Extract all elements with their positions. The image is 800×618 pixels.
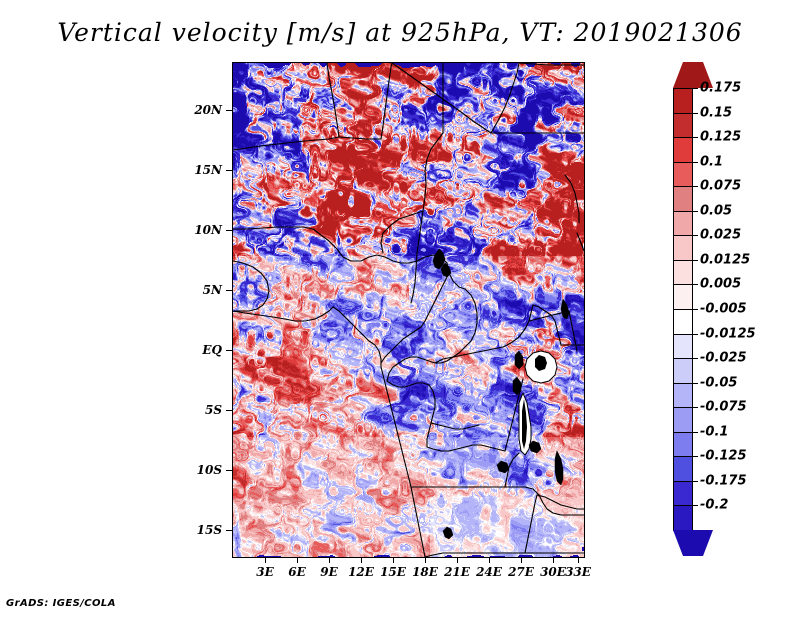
colorbar[interactable]: 0.1750.150.1250.10.0750.050.0250.01250.0… (673, 62, 693, 556)
colorbar-tick (693, 456, 698, 457)
x-tick-27E (521, 557, 522, 563)
colorbar-band (673, 481, 693, 507)
colorbar-band (673, 334, 693, 360)
colorbar-label: -0.2 (700, 498, 728, 513)
map-plot-area[interactable] (232, 62, 585, 558)
y-tick-10S (226, 470, 232, 471)
colorbar-tick (693, 260, 698, 261)
colorbar-label: -0.0125 (700, 326, 756, 341)
colorbar-label: 0.15 (700, 105, 732, 120)
y-tick-20N (226, 110, 232, 111)
x-tick-21E (457, 557, 458, 563)
x-tick-30E (553, 557, 554, 563)
x-label-15E: 15E (380, 565, 406, 579)
colorbar-band (673, 456, 693, 482)
colorbar-tick (693, 358, 698, 359)
colorbar-label: -0.05 (700, 375, 737, 390)
colorbar-label: -0.1 (700, 424, 728, 439)
colorbar-label: 0.0125 (700, 252, 750, 267)
colorbar-band (673, 407, 693, 433)
grads-plot-page: Vertical velocity [m/s] at 925hPa, VT: 2… (0, 0, 800, 618)
y-label-5S: 5S (178, 403, 222, 417)
x-tick-12E (361, 557, 362, 563)
colorbar-band (673, 235, 693, 261)
colorbar-tick (693, 186, 698, 187)
colorbar-label: -0.005 (700, 302, 747, 317)
x-tick-18E (425, 557, 426, 563)
colorbar-band (673, 186, 693, 212)
y-label-20N: 20N (178, 103, 222, 117)
y-label-15N: 15N (178, 163, 222, 177)
colorbar-tick (693, 284, 698, 285)
colorbar-label: 0.1 (700, 154, 723, 169)
colorbar-band (673, 162, 693, 188)
x-label-9E: 9E (320, 565, 338, 579)
y-label-15S: 15S (178, 523, 222, 537)
x-label-18E: 18E (412, 565, 438, 579)
colorbar-tick (693, 309, 698, 310)
colorbar-tick (693, 432, 698, 433)
colorbar-tick (693, 211, 698, 212)
x-label-27E: 27E (508, 565, 534, 579)
colorbar-band (673, 211, 693, 237)
x-tick-15E (393, 557, 394, 563)
x-tick-33E (578, 557, 579, 563)
colorbar-label: 0.005 (700, 277, 741, 292)
y-tick-EQ (226, 350, 232, 351)
colorbar-label: -0.025 (700, 351, 747, 366)
colorbar-band (673, 505, 693, 531)
x-tick-24E (489, 557, 490, 563)
y-tick-5S (226, 410, 232, 411)
x-label-33E: 33E (565, 565, 591, 579)
colorbar-tick (693, 383, 698, 384)
x-label-6E: 6E (288, 565, 306, 579)
colorbar-label: 0.05 (700, 203, 732, 218)
y-tick-5N (226, 290, 232, 291)
colorbar-label: -0.125 (700, 449, 747, 464)
grads-credit: GrADS: IGES/COLA (6, 598, 116, 609)
y-label-EQ: EQ (178, 343, 222, 357)
x-label-24E: 24E (476, 565, 502, 579)
x-label-12E: 12E (348, 565, 374, 579)
x-tick-3E (265, 557, 266, 563)
colorbar-tick (693, 113, 698, 114)
colorbar-tick (693, 407, 698, 408)
y-label-10N: 10N (178, 223, 222, 237)
colorbar-arrow-bottom (673, 530, 713, 556)
page-title: Vertical velocity [m/s] at 925hPa, VT: 2… (0, 18, 800, 47)
colorbar-label: 0.025 (700, 228, 741, 243)
colorbar-band (673, 113, 693, 139)
colorbar-band (673, 432, 693, 458)
colorbar-band (673, 309, 693, 335)
colorbar-tick (693, 481, 698, 482)
colorbar-band (673, 358, 693, 384)
colorbar-label: 0.175 (700, 81, 741, 96)
colorbar-band (673, 88, 693, 114)
y-label-10S: 10S (178, 463, 222, 477)
y-tick-10N (226, 230, 232, 231)
colorbar-tick (693, 137, 698, 138)
colorbar-label: 0.075 (700, 179, 741, 194)
x-tick-6E (297, 557, 298, 563)
y-tick-15N (226, 170, 232, 171)
x-tick-9E (329, 557, 330, 563)
y-label-5N: 5N (178, 283, 222, 297)
x-label-30E: 30E (540, 565, 566, 579)
x-label-3E: 3E (256, 565, 274, 579)
colorbar-band (673, 284, 693, 310)
x-label-21E: 21E (444, 565, 470, 579)
colorbar-label: -0.175 (700, 473, 747, 488)
colorbar-label: -0.075 (700, 400, 747, 415)
vertical-velocity-heatmap (233, 63, 584, 557)
colorbar-tick (693, 88, 698, 89)
colorbar-tick (693, 162, 698, 163)
colorbar-tick (693, 235, 698, 236)
colorbar-band (673, 383, 693, 409)
y-tick-15S (226, 530, 232, 531)
colorbar-tick (693, 505, 698, 506)
colorbar-band (673, 260, 693, 286)
colorbar-band (673, 137, 693, 163)
colorbar-label: 0.125 (700, 130, 741, 145)
colorbar-tick (693, 334, 698, 335)
